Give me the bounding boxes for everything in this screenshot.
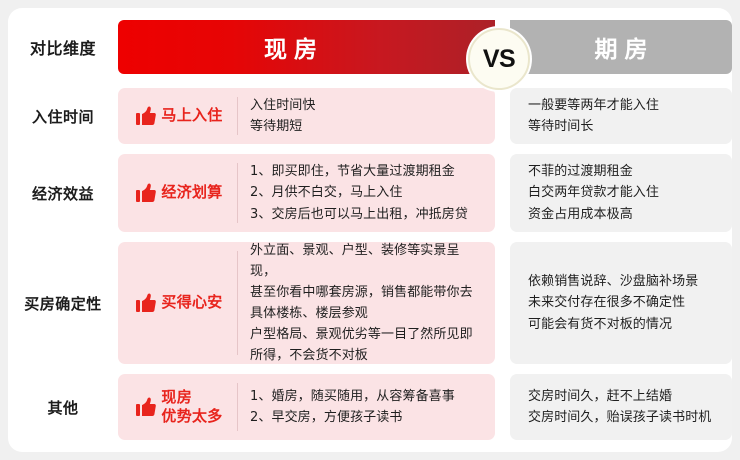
row-pro-cell: 经济划算 1、即买即住，节省大量过渡期租金 2、月供不白交，马上入住 3、交房后… xyxy=(118,154,495,232)
table-row: 买房确定性 买得心安 外立面、景观、户型、装修等实景呈现， 甚至你看中哪套房源，… xyxy=(8,242,732,364)
thumbs-up-icon xyxy=(136,182,156,204)
vs-label: VS xyxy=(483,45,515,74)
pro-tag-label: 现房 优势太多 xyxy=(161,388,222,426)
table-row: 其他 现房 优势太多 1、婚房，随买随用，从容筹备喜事 2、早交房，方便孩子读书 xyxy=(8,374,732,440)
pro-tag: 买得心安 xyxy=(118,292,237,314)
table-header-row: 对比维度 现房 期房 VS xyxy=(8,20,732,74)
row-con-cell: 一般要等两年才能入住 等待时间长 xyxy=(510,88,732,144)
header-con-cell: 期房 xyxy=(510,20,732,74)
row-pro-cell: 现房 优势太多 1、婚房，随买随用，从容筹备喜事 2、早交房，方便孩子读书 xyxy=(118,374,495,440)
pro-tag-label: 马上入住 xyxy=(161,106,222,125)
con-detail-text: 依赖销售说辞、沙盘脑补场景 未来交付存在很多不确定性 可能会有货不对板的情况 xyxy=(510,271,712,334)
row-pro-cell: 马上入住 入住时间快 等待期短 xyxy=(118,88,495,144)
table-row: 经济效益 经济划算 1、即买即住，节省大量过渡期租金 2、月供不白交，马上入住 … xyxy=(8,154,732,232)
row-con-cell: 不菲的过渡期租金 白交两年贷款才能入住 资金占用成本极高 xyxy=(510,154,732,232)
row-dimension-label: 入住时间 xyxy=(8,88,118,144)
pro-detail-text: 入住时间快 等待期短 xyxy=(238,95,495,137)
con-panel: 不菲的过渡期租金 白交两年贷款才能入住 资金占用成本极高 xyxy=(510,154,732,232)
pro-panel: 经济划算 1、即买即住，节省大量过渡期租金 2、月供不白交，马上入住 3、交房后… xyxy=(118,154,495,232)
header-con-label: 期房 xyxy=(588,30,655,64)
row-spacer xyxy=(495,154,510,232)
row-spacer xyxy=(495,374,510,440)
row-con-cell: 交房时间久，赶不上结婚 交房时间久，贻误孩子读书时机 xyxy=(510,374,732,440)
pro-panel: 马上入住 入住时间快 等待期短 xyxy=(118,88,495,144)
pro-detail-text: 外立面、景观、户型、装修等实景呈现， 甚至你看中哪套房源，销售都能带你去 具体楼… xyxy=(238,240,495,366)
row-dimension-label: 买房确定性 xyxy=(8,242,118,364)
row-spacer xyxy=(495,242,510,364)
thumbs-up-icon xyxy=(136,105,156,127)
header-pro-cell: 现房 xyxy=(118,20,495,74)
header-dimension-label: 对比维度 xyxy=(8,20,118,74)
pro-detail-text: 1、即买即住，节省大量过渡期租金 2、月供不白交，马上入住 3、交房后也可以马上… xyxy=(238,161,495,224)
pro-panel: 现房 优势太多 1、婚房，随买随用，从容筹备喜事 2、早交房，方便孩子读书 xyxy=(118,374,495,440)
row-dimension-label: 经济效益 xyxy=(8,154,118,232)
header-con-bar: 期房 xyxy=(510,20,732,74)
thumbs-up-icon xyxy=(136,396,156,418)
pro-detail-text: 1、婚房，随买随用，从容筹备喜事 2、早交房，方便孩子读书 xyxy=(238,386,495,428)
con-detail-text: 不菲的过渡期租金 白交两年贷款才能入住 资金占用成本极高 xyxy=(510,161,673,224)
row-con-cell: 依赖销售说辞、沙盘脑补场景 未来交付存在很多不确定性 可能会有货不对板的情况 xyxy=(510,242,732,364)
con-detail-text: 一般要等两年才能入住 等待时间长 xyxy=(510,95,673,137)
header-pro-label: 现房 xyxy=(257,30,324,64)
table-row: 入住时间 马上入住 入住时间快 等待期短 一般要等两年才 xyxy=(8,88,732,144)
thumbs-up-icon xyxy=(136,292,156,314)
row-dimension-label: 其他 xyxy=(8,374,118,440)
con-panel: 依赖销售说辞、沙盘脑补场景 未来交付存在很多不确定性 可能会有货不对板的情况 xyxy=(510,242,732,364)
vs-badge: VS xyxy=(468,28,530,90)
pro-tag-label: 经济划算 xyxy=(161,183,222,202)
con-panel: 交房时间久，赶不上结婚 交房时间久，贻误孩子读书时机 xyxy=(510,374,732,440)
pro-tag: 马上入住 xyxy=(118,105,237,127)
comparison-card: 对比维度 现房 期房 VS 入住时间 xyxy=(8,8,732,452)
pro-panel: 买得心安 外立面、景观、户型、装修等实景呈现， 甚至你看中哪套房源，销售都能带你… xyxy=(118,242,495,364)
con-detail-text: 交房时间久，赶不上结婚 交房时间久，贻误孩子读书时机 xyxy=(510,386,725,428)
row-spacer xyxy=(495,88,510,144)
header-pro-bar: 现房 xyxy=(118,20,495,74)
con-panel: 一般要等两年才能入住 等待时间长 xyxy=(510,88,732,144)
pro-tag: 经济划算 xyxy=(118,182,237,204)
pro-tag-label: 买得心安 xyxy=(161,293,222,312)
pro-tag: 现房 优势太多 xyxy=(118,388,237,426)
row-pro-cell: 买得心安 外立面、景观、户型、装修等实景呈现， 甚至你看中哪套房源，销售都能带你… xyxy=(118,242,495,364)
